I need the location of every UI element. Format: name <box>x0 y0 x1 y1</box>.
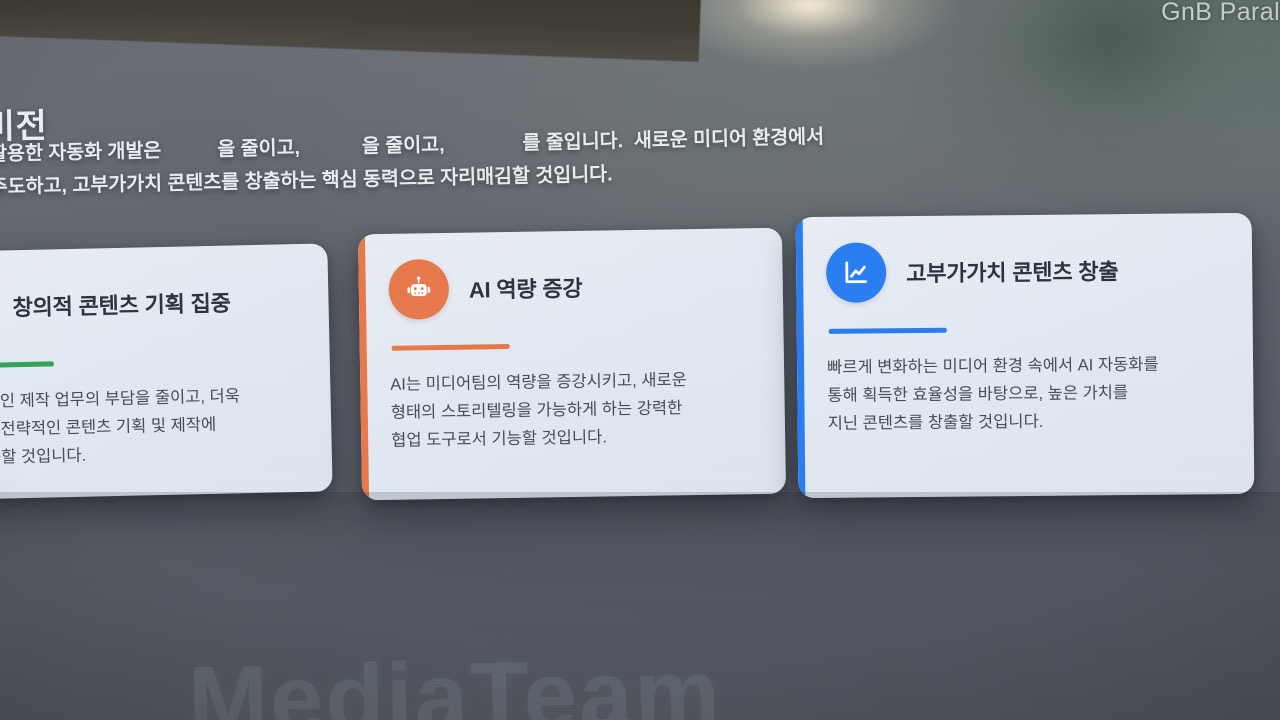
card-underline <box>829 328 947 334</box>
card-title: 고부가가치 콘텐츠 창출 <box>906 254 1119 288</box>
card-underline <box>392 344 510 351</box>
card-row: 창의적 콘텐츠 기획 집중 순 반복적인 제작 업무의 부담을 줄이고, 더욱 … <box>0 0 1280 720</box>
line-chart-icon <box>826 242 887 303</box>
projected-slide-photo: GnB Parall 래 비전 를 활용한 자동화 개발은을 줄이고,을 줄이고… <box>0 0 1280 720</box>
card-title: AI 역량 증강 <box>469 271 583 305</box>
card-body-text: 순 반복적인 제작 업무의 부담을 줄이고, 더욱 의적이고 전략적인 콘텐츠 … <box>0 381 306 473</box>
card-creative[interactable]: 창의적 콘텐츠 기획 집중 순 반복적인 제작 업무의 부담을 줄이고, 더욱 … <box>0 243 333 500</box>
card-title: 창의적 콘텐츠 기획 집중 <box>12 286 231 323</box>
robot-icon <box>388 259 449 320</box>
card-body-text: AI는 미디어팀의 역량을 증강시키고, 새로운 형태의 스토리텔링을 가능하게… <box>390 365 759 455</box>
card-underline <box>0 361 54 369</box>
card-ai[interactable]: AI 역량 증강 AI는 미디어팀의 역량을 증강시키고, 새로운 형태의 스토… <box>358 228 786 501</box>
card-value[interactable]: 고부가가치 콘텐츠 창출 빠르게 변화하는 미디어 환경 속에서 AI 자동화를… <box>796 213 1255 498</box>
card-body-text: 빠르게 변화하는 미디어 환경 속에서 AI 자동화를 통해 획득한 효율성을 … <box>827 350 1228 438</box>
